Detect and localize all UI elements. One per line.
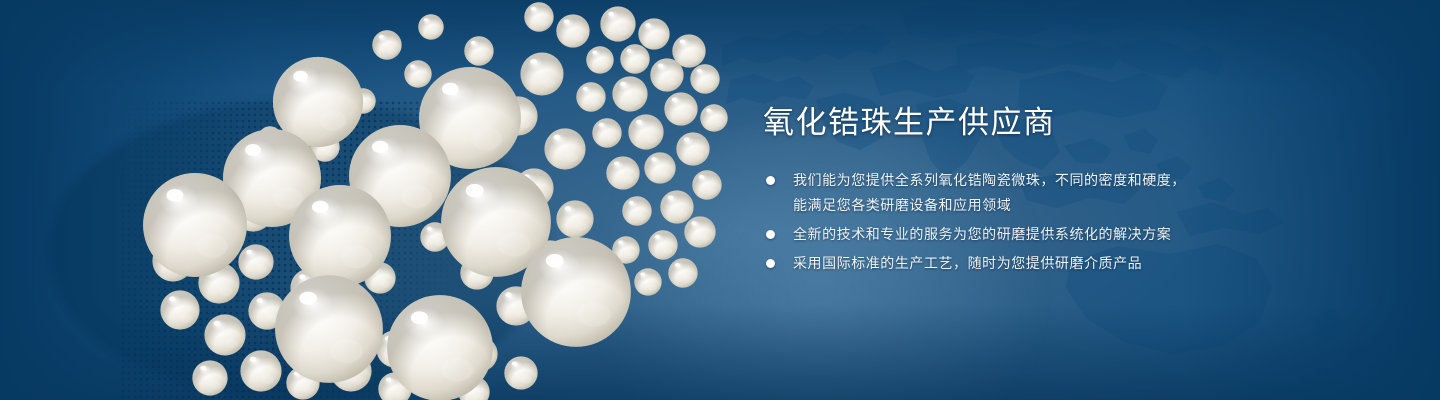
zirconia-beads-product-photo <box>0 0 760 400</box>
banner-bullet-item: 采用国际标准的生产工艺，随时为您提供研磨介质产品 <box>762 251 1282 276</box>
bullet-line: 能满足您各类研磨设备和应用领域 <box>793 193 1282 218</box>
banner-headline: 氧化锆珠生产供应商 <box>763 104 1282 142</box>
bullet-line: 全新的技术和专业的服务为您的研磨提供系统化的解决方案 <box>793 222 1282 247</box>
banner-bullet-list: 我们能为您提供全系列氧化锆陶瓷微珠，不同的密度和硬度， 能满足您各类研磨设备和应… <box>762 168 1282 276</box>
bullet-dot-icon <box>766 259 775 268</box>
bullet-dot-icon <box>766 230 775 239</box>
bullet-line: 采用国际标准的生产工艺，随时为您提供研磨介质产品 <box>793 251 1282 276</box>
bullet-line: 我们能为您提供全系列氧化锆陶瓷微珠，不同的密度和硬度， <box>793 168 1282 193</box>
hero-banner: 氧化锆珠生产供应商 我们能为您提供全系列氧化锆陶瓷微珠，不同的密度和硬度， 能满… <box>0 0 1440 400</box>
banner-bullet-item: 我们能为您提供全系列氧化锆陶瓷微珠，不同的密度和硬度， 能满足您各类研磨设备和应… <box>762 168 1282 218</box>
banner-bullet-item: 全新的技术和专业的服务为您的研磨提供系统化的解决方案 <box>762 222 1282 247</box>
banner-copy-block: 氧化锆珠生产供应商 我们能为您提供全系列氧化锆陶瓷微珠，不同的密度和硬度， 能满… <box>762 104 1282 276</box>
bullet-dot-icon <box>766 176 775 185</box>
